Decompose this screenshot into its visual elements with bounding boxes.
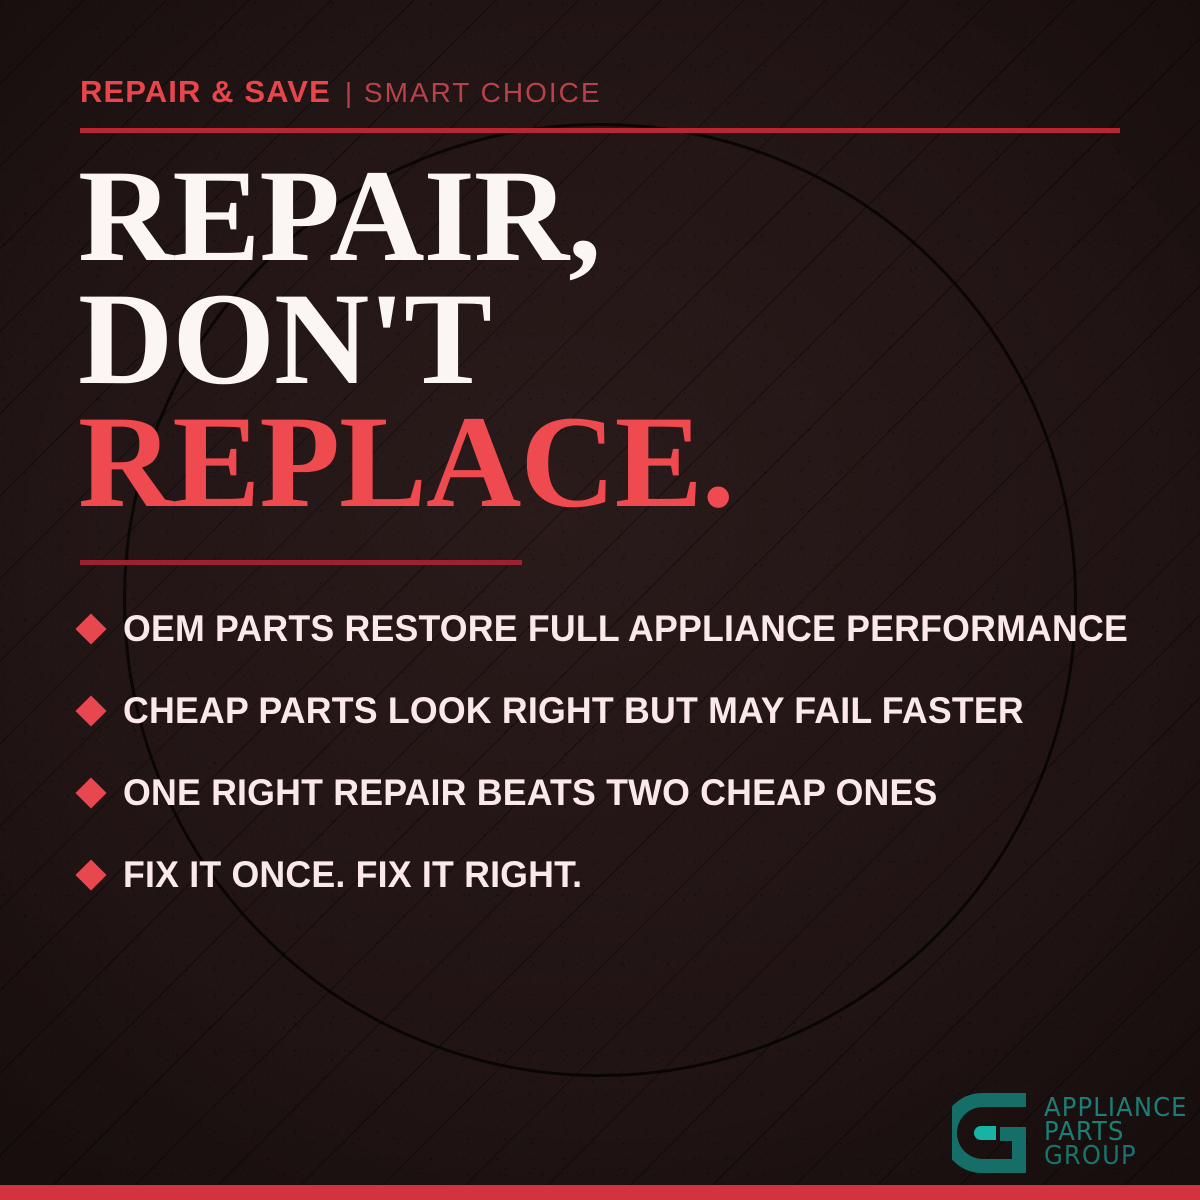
benefits-list: OEM PARTS RESTORE FULL APPLIANCE PERFORM… — [80, 588, 1150, 916]
eyebrow-light-label: | SMART CHOICE — [345, 77, 602, 109]
list-item: OEM PARTS RESTORE FULL APPLIANCE PERFORM… — [80, 588, 1150, 670]
list-item: FIX IT ONCE. FIX IT RIGHT. — [80, 834, 1150, 916]
header-divider-rule — [80, 128, 1120, 133]
brand-logo: APPLIANCE PARTS GROUP — [952, 1093, 1195, 1173]
headline-line-1: REPAIR, — [78, 155, 734, 278]
headline-line-3: REPLACE. — [78, 401, 734, 524]
brand-logo-line-3: GROUP — [1044, 1145, 1188, 1169]
eyebrow-strong-label: REPAIR & SAVE — [80, 74, 331, 110]
g-monogram-icon — [952, 1093, 1030, 1173]
poster-content: REPAIR & SAVE | SMART CHOICE REPAIR, DON… — [0, 0, 1200, 1200]
headline: REPAIR, DON'T REPLACE. — [78, 155, 734, 523]
list-item: CHEAP PARTS LOOK RIGHT BUT MAY FAIL FAST… — [80, 670, 1150, 752]
diamond-bullet-icon — [75, 777, 106, 808]
poster-canvas: REPAIR & SAVE | SMART CHOICE REPAIR, DON… — [0, 0, 1200, 1200]
list-item-label: FIX IT ONCE. FIX IT RIGHT. — [123, 854, 582, 896]
eyebrow: REPAIR & SAVE | SMART CHOICE — [80, 74, 602, 110]
list-item-label: ONE RIGHT REPAIR BEATS TWO CHEAP ONES — [123, 772, 938, 814]
brand-logo-wordmark: APPLIANCE PARTS GROUP — [1044, 1097, 1195, 1168]
list-item-label: OEM PARTS RESTORE FULL APPLIANCE PERFORM… — [123, 608, 1128, 650]
bottom-accent-strip — [0, 1185, 1200, 1200]
headline-line-2: DON'T — [78, 278, 734, 401]
diamond-bullet-icon — [75, 695, 106, 726]
diamond-bullet-icon — [75, 859, 106, 890]
list-item: ONE RIGHT REPAIR BEATS TWO CHEAP ONES — [80, 752, 1150, 834]
headline-divider-rule — [80, 560, 522, 565]
diamond-bullet-icon — [75, 613, 106, 644]
list-item-label: CHEAP PARTS LOOK RIGHT BUT MAY FAIL FAST… — [123, 690, 1024, 732]
